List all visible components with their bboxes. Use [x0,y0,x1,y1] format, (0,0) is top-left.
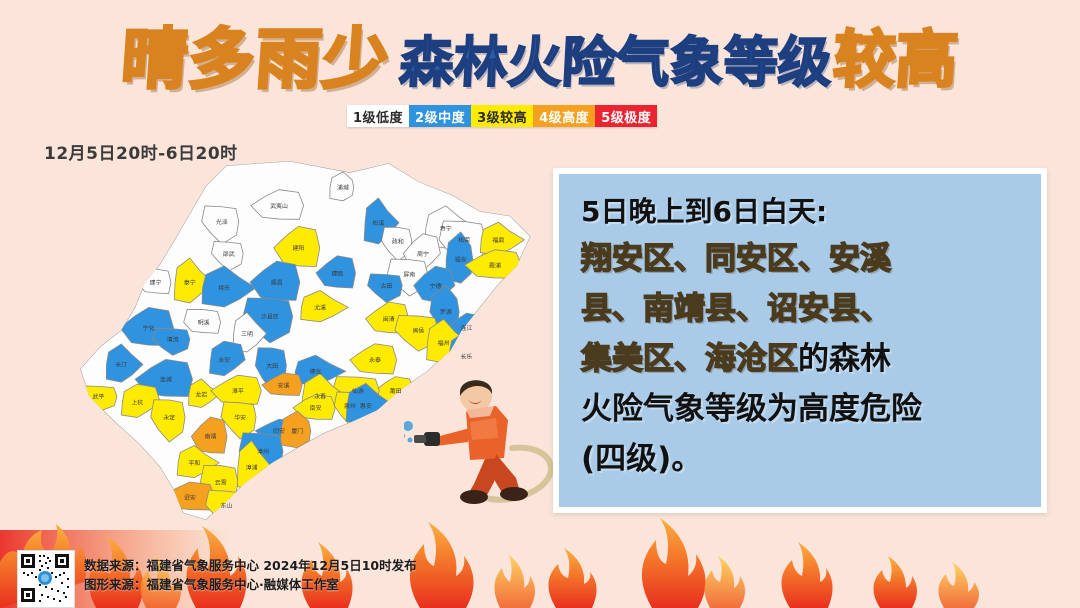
map-region-label: 惠安 [360,402,372,410]
forecast-line-1: 翔安区、同安区、安溪 [581,234,1023,284]
map-region-label: 泰宁 [184,278,196,286]
map-region-label: 明溪 [198,318,210,326]
map-region-label: 古田 [380,282,392,290]
map-region-label: 闽侯 [412,326,424,334]
map-region-label: 安溪 [278,381,290,389]
map-region-label: 长汀 [115,361,127,369]
forecast-line-5: (四级)。 [581,434,1023,484]
forecast-heading: 5日晚上到6日白天: [581,190,1023,234]
map-region-label: 华安 [234,413,246,421]
legend-item-4: 4级高度 [533,105,595,127]
map-region-label: 泉州 [344,402,356,410]
map-region-label: 南安 [310,404,322,412]
map-region-label: 长乐 [460,353,472,361]
map-region-label: 闽清 [383,315,395,323]
map-region-label: 上杭 [131,398,143,406]
map-region-label: 福州 [438,339,450,347]
map-region-label: 漳州 [257,448,269,456]
legend-item-3: 3级较高 [471,105,533,127]
map-region-label: 龙岩 [195,390,207,398]
map-region-label: 柘荣 [458,236,470,244]
map-region-label: 光泽 [216,218,228,226]
legend-item-5: 5级极度 [595,105,657,127]
map-region-label: 周宁 [417,250,429,258]
legend-item-2: 2级中度 [409,105,471,127]
title-part-2: 森林火险气象等级 [398,18,834,97]
map-region-label: 福鼎 [492,236,504,244]
forecast-body: 翔安区、同安区、安溪县、南靖县、诏安县、集美区、海沧区的森林火险气象等级为高度危… [581,234,1023,484]
forecast-seg-4: 的森林 [798,341,891,377]
map-region-label: 宁德 [430,282,442,290]
map-region-label: 武平 [92,393,104,401]
fire-risk-legend: 1级低度2级中度3级较高4级高度5级极度 [347,105,657,127]
footer-credits: 数据来源：福建省气象服务中心 2024年12月5日10时发布 图形来源：福建省气… [84,556,417,594]
forecast-line-2: 县、南靖县、诏安县、 [581,284,1023,334]
map-region-label: 屏南 [403,270,415,278]
map-region-label: 平和 [188,459,200,467]
map-region-label: 宁化 [143,324,155,332]
map-region-label: 福安 [455,256,467,264]
map-region-label: 永春 [314,393,326,401]
map-region-label: 建宁 [150,278,162,286]
map-region-label: 建阳 [292,244,304,252]
qr-code[interactable] [17,550,75,608]
legend-item-1: 1级低度 [347,105,409,127]
map-region-label: 同安 [273,427,285,435]
footer-data-source: 数据来源：福建省气象服务中心 2024年12月5日10时发布 [84,556,417,575]
map-region-label: 建瓯 [331,269,343,277]
map-region-label: 连江 [460,324,472,332]
footer-graphic-source: 图形来源：福建省气象服务中心·融媒体工作室 [84,575,417,594]
forecast-seg-1: 翔安区、同安区、安溪 [581,241,891,277]
map-region-label: 德化 [310,368,322,376]
map-region-label: 政和 [392,237,404,245]
water-spray [404,421,413,443]
map-region-label: 连城 [160,376,172,384]
map-region-label: 尤溪 [314,304,326,312]
map-region-label: 三明 [241,331,253,338]
forecast-detail-box: 5日晚上到6日白天: 翔安区、同安区、安溪县、南靖县、诏安县、集美区、海沧区的森… [553,168,1047,513]
map-region-label: 仙游 [352,387,364,395]
map-region-label: 清流 [167,336,179,344]
title-part-3: 较高 [831,9,961,99]
forecast-line-4: 火险气象等级为高度危险 [581,384,1023,434]
map-region-label: 沙县区 [261,314,279,321]
map-region-label: 浦城 [337,184,349,192]
forecast-seg-5: 火险气象等级为高度危险 [581,391,922,427]
map-region-label: 永泰 [369,356,381,364]
map-region-label: 厦门 [291,427,303,435]
map-region-label: 顺昌 [271,279,283,286]
map-region-label: 将乐 [218,284,230,292]
title-part-1: 晴多雨少 [119,6,394,102]
map-region-label: 莆田 [390,387,402,395]
map-region-label: 云霄 [215,479,227,486]
poster-title: 晴多雨少 森林火险气象等级 较高 [0,8,1080,100]
forecast-line-3: 集美区、海沧区的森林 [581,334,1023,384]
forecast-seg-6: (四级)。 [581,441,702,477]
map-region-label: 漳平 [232,387,244,395]
map-region-label: 永安 [218,356,230,364]
map-region-label: 漳浦 [246,464,258,472]
map-region-label: 武夷山 [270,202,288,210]
poster-root: 晴多雨少 森林火险气象等级 较高 1级低度2级中度3级较高4级高度5级极度 12… [0,0,1080,608]
forecast-seg-3: 集美区、海沧区 [581,341,798,377]
map-region-label: 邵武 [223,250,235,258]
map-region-label: 霞浦 [489,261,501,269]
map-region-label: 寿宁 [440,225,452,233]
forecast-seg-2: 县、南靖县、诏安县、 [581,291,891,327]
map-region-label: 大田 [266,362,278,370]
map-region-label: 罗源 [440,308,452,316]
map-region-label: 松溪 [372,219,384,227]
map-region-label: 永定 [163,413,175,421]
map-region-label: 南靖 [204,433,216,441]
